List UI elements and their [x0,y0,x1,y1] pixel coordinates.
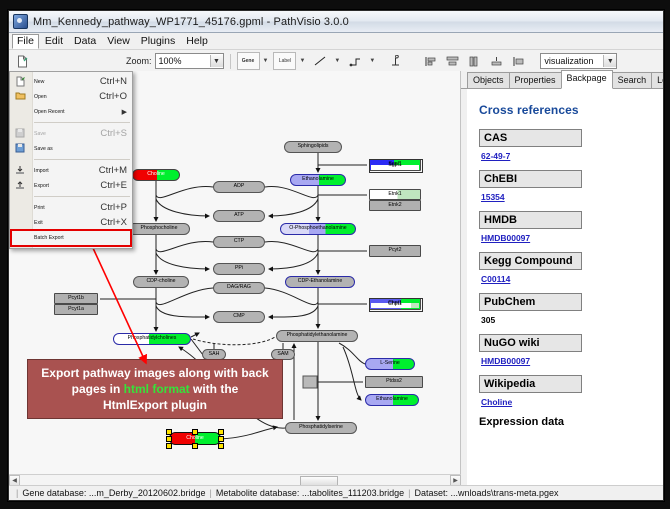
node-phosphatidylethanolamine[interactable]: Phosphatidylethanolamine [276,330,358,342]
main-body: Sphingolipids Sgpl1 Sgpl1 Ethanolamine A… [9,71,663,500]
xref-cas: CAS 62-49-7 [479,129,653,161]
node-ctp[interactable]: CTP [213,236,265,248]
align-left-icon[interactable] [421,52,440,71]
xref-nugo-header: NuGO wiki [479,334,582,352]
selection-handle[interactable] [218,436,224,442]
pathvisio-window: Mm_Kennedy_pathway_WP1771_45176.gpml - P… [8,10,664,501]
menu-item-new-accel: Ctrl+N [100,76,132,87]
node-ptdss2[interactable]: Ptdss2 [365,376,423,388]
node-phosphocholine[interactable]: Phosphocholine [128,223,190,235]
chevron-down-icon[interactable]: ▼ [261,58,271,64]
menu-separator [34,196,130,197]
node-label: Ethanolamine [376,397,408,402]
node-label: Pcyt2 [389,248,402,253]
save-as-icon [14,143,26,154]
node-label: SAH [209,352,220,357]
menu-plugins[interactable]: Plugins [136,34,180,49]
node-label: PPi [235,266,243,271]
node-label: Etnk2 [388,203,401,208]
selection-handle[interactable] [192,429,198,435]
menu-item-import-accel: Ctrl+M [99,165,132,176]
annotation-line-2a: pages in [72,382,124,396]
title-bar: Mm_Kennedy_pathway_WP1771_45176.gpml - P… [9,11,663,33]
menu-separator [34,122,130,123]
node-pcyt2[interactable]: Pcyt2 [369,245,421,257]
chevron-down-icon[interactable]: ▼ [603,55,616,67]
xref-kegg: Kegg Compound C00114 [479,252,653,284]
selection-handle[interactable] [166,443,172,449]
status-area: ◀ ▶ | Gene database: ...m_Derby_20120602… [9,474,663,500]
status-gene-database: Gene database: ...m_Derby_20120602.bridg… [22,488,205,498]
export-icon [14,180,26,191]
node-l-serine[interactable]: L-Serine [365,358,415,370]
node-label: Sgpl1 [388,162,401,167]
node-label: Phosphatidylethanolamine [287,333,348,338]
expression-data-heading: Expression data [479,416,653,428]
xref-hmdb-header: HMDB [479,211,582,229]
xref-chebi: ChEBI 15354 [479,170,653,202]
node-label: O-Phosphoethanolamine [289,226,346,231]
group-icon[interactable] [487,52,506,71]
tab-search[interactable]: Search [612,72,653,88]
node-ethanolamine-top[interactable]: Ethanolamine [290,174,346,186]
new-document-icon[interactable] [13,52,32,71]
distribute-icon[interactable] [443,52,462,71]
interaction-tool[interactable]: ▼ [345,53,377,69]
selection-handle[interactable] [218,443,224,449]
status-divider: | [16,488,18,498]
open-folder-icon [14,91,26,102]
annotation-line-3: HtmlExport plugin [103,397,207,413]
xref-wikipedia-header: Wikipedia [479,375,582,393]
menu-item-save-label: Save [34,131,100,137]
menu-item-print[interactable]: Print Ctrl+P [10,200,132,215]
selection-handle[interactable] [166,429,172,435]
line-icon [310,53,331,69]
interaction-icon [345,53,366,69]
label-tool-label: Label [273,52,296,70]
tab-backpage[interactable]: Backpage [561,70,613,89]
annotation-banner: Export pathway images along with back pa… [27,359,283,419]
status-dataset: Dataset: ...wnloads\trans-meta.pgex [414,488,558,498]
node-dag[interactable]: DAG/RAG [213,282,265,294]
node-label: Sphingolipids [298,144,329,149]
node-etnk1[interactable]: Etnk1 [369,189,421,200]
menu-item-open[interactable]: Open Ctrl+O [10,89,132,104]
line-tool[interactable]: ▼ [310,53,342,69]
node-atp[interactable]: ATP [213,210,265,222]
menu-item-new[interactable]: New Ctrl+N [10,74,132,89]
node-cmp[interactable]: CMP [213,311,265,323]
node-label: CMP [233,314,245,319]
label-tool[interactable]: Label ▼ [273,52,307,70]
xref-pubchem: PubChem 305 [479,293,653,325]
node-label: ATP [234,213,244,218]
node-label: Ptdss2 [386,379,402,384]
node-label: Choline [186,436,204,441]
node-label: CTP [234,239,244,244]
menu-view[interactable]: View [102,34,135,49]
menu-item-save-accel: Ctrl+S [100,128,132,139]
menu-edit[interactable]: Edit [40,34,68,49]
status-bar: | Gene database: ...m_Derby_20120602.bri… [9,485,663,500]
selection-handle[interactable] [218,429,224,435]
visualization-value: visualization [544,56,593,66]
menu-item-open-accel: Ctrl+O [99,91,132,102]
file-menu-popup[interactable]: New Ctrl+N Open Ctrl+O Open Recent ▶ [9,71,133,249]
anchor-icon[interactable] [386,52,405,71]
menu-separator [34,159,130,160]
cross-references-heading: Cross references [479,103,653,117]
node-adp[interactable]: ADP [213,181,265,193]
chevron-down-icon[interactable]: ▼ [332,58,342,64]
xref-kegg-header: Kegg Compound [479,252,582,270]
node-label: Pcyt1a [68,307,84,312]
xref-chebi-header: ChEBI [479,170,582,188]
selection-handle[interactable] [192,443,198,449]
annotation-line-2: pages in html format with the [72,381,239,397]
app-icon [13,14,28,29]
xref-cas-link[interactable]: 62-49-7 [481,151,653,161]
tab-legend[interactable]: Legend [651,72,664,88]
status-divider: | [408,488,410,498]
menu-item-print-accel: Ctrl+P [100,202,132,213]
node-label: Choline [147,172,165,177]
menu-item-open-label: Open [34,94,99,100]
right-panel: Objects Properties Backpage Search Legen… [461,71,663,500]
menu-item-import-label: Import [34,168,99,174]
window-title: Mm_Kennedy_pathway_WP1771_45176.gpml - P… [33,16,349,28]
menu-item-save-as[interactable]: Save as [10,141,132,156]
node-pcyt1a[interactable]: Pcyt1a [54,304,98,315]
annotation-line-1: Export pathway images along with back [41,365,268,381]
xref-pubchem-value: 305 [481,315,653,325]
menu-file[interactable]: File [12,34,39,49]
node-label: CDP-Ethanolamine [298,279,342,284]
node-label: Ethanolamine [302,177,334,182]
tab-objects[interactable]: Objects [467,72,510,88]
annotation-line-2b: with the [190,382,239,396]
node-o-phosphoethanolamine[interactable]: O-Phosphoethanolamine [280,223,356,235]
desktop-background: Mm_Kennedy_pathway_WP1771_45176.gpml - P… [0,0,670,509]
gene-tool-label: Gene [237,52,260,70]
node-label: Pcyt1b [68,296,84,301]
node-ethanolamine-bottom[interactable]: Ethanolamine [365,394,419,406]
chevron-down-icon[interactable]: ▼ [210,55,223,67]
xref-kegg-link[interactable]: C00114 [481,274,653,284]
node-label: Phosphocholine [141,226,178,231]
menu-item-exit-label: Exit [34,220,100,226]
menu-help[interactable]: Help [181,34,213,49]
xref-wikipedia-link[interactable]: Choline [481,397,653,407]
node-etnk2[interactable]: Etnk2 [369,200,421,211]
xref-hmdb: HMDB HMDB00097 [479,211,653,243]
tab-properties[interactable]: Properties [509,72,562,88]
node-phosphatidylcholines[interactable]: Phosphatidylcholines [113,333,191,345]
node-label: DAG/RAG [227,285,251,290]
node-label: CDP-choline [146,279,175,284]
menu-item-print-label: Print [34,205,100,211]
visualization-combo[interactable]: visualization ▼ [540,53,617,69]
menu-item-import[interactable]: Import Ctrl+M [10,163,132,178]
status-metabolite-database: Metabolite database: ...tabolites_111203… [216,488,404,498]
node-label: Etnk1 [388,192,401,197]
menu-item-save-as-label: Save as [34,146,127,152]
menu-item-export-accel: Ctrl+E [100,180,132,191]
node-sphingolipids[interactable]: Sphingolipids [284,141,342,153]
menu-bar: File Edit Data View Plugins Help [9,33,663,50]
menu-item-batch-export-label: Batch Export [34,235,130,241]
node-label: ADP [234,184,245,189]
gene-tool[interactable]: Gene ▼ [237,52,271,70]
toolbar-divider [230,54,231,69]
node-pcyt1b[interactable]: Pcyt1b [54,293,98,304]
menu-item-export[interactable]: Export Ctrl+E [10,178,132,193]
menu-item-export-label: Export [34,183,100,189]
node-label: Chpt1 [388,301,402,306]
node-phosphatidylserine[interactable]: Phosphatidylserine [285,422,357,434]
menu-item-batch-export[interactable]: Batch Export [12,231,130,245]
xref-chebi-link[interactable]: 15354 [481,192,653,202]
annotation-highlight: html format [124,382,190,396]
menu-item-open-recent-label: Open Recent [34,109,122,115]
xref-nugo-link[interactable]: HMDB00097 [481,356,653,366]
xref-hmdb-link[interactable]: HMDB00097 [481,233,653,243]
backpage-content: Cross references CAS 62-49-7 ChEBI 15354… [461,89,663,500]
zoom-label: Zoom: [126,56,152,66]
node-label: L-Serine [380,361,400,366]
selection-handle[interactable] [166,436,172,442]
new-file-icon [14,76,26,87]
menu-data[interactable]: Data [69,34,101,49]
menu-item-save: Save Ctrl+S [10,126,132,141]
xref-pubchem-header: PubChem [479,293,582,311]
node-cdp-choline[interactable]: CDP-choline [133,276,189,288]
node-label: SAM [277,352,288,357]
chevron-right-icon: ▶ [122,108,132,116]
pathway-canvas-area[interactable]: Sphingolipids Sgpl1 Sgpl1 Ethanolamine A… [9,71,461,500]
xref-cas-header: CAS [479,129,582,147]
menu-item-exit-accel: Ctrl+X [100,217,132,228]
order-icon[interactable] [509,52,528,71]
menu-item-open-recent[interactable]: Open Recent ▶ [10,104,132,119]
xref-wikipedia: Wikipedia Choline [479,375,653,407]
node-choline-top[interactable]: Choline [132,169,180,181]
zoom-value: 100% [159,56,182,66]
menu-item-new-label: New [34,79,100,85]
menu-item-exit[interactable]: Exit Ctrl+X [10,215,132,230]
chevron-down-icon[interactable]: ▼ [297,58,307,64]
chevron-down-icon[interactable]: ▼ [367,58,377,64]
node-ppi[interactable]: PPi [213,263,265,275]
node-label: Phosphatidylserine [299,425,343,430]
zoom-combo[interactable]: 100% ▼ [155,53,224,69]
stack-icon[interactable] [465,52,484,71]
status-divider: | [209,488,211,498]
node-cdp-ethanolamine[interactable]: CDP-Ethanolamine [285,276,355,288]
import-icon [14,165,26,176]
save-disk-icon [14,128,26,139]
node-label: Phosphatidylcholines [128,336,177,341]
xref-nugo: NuGO wiki HMDB00097 [479,334,653,366]
panel-tabstrip: Objects Properties Backpage Search Legen… [461,71,663,89]
